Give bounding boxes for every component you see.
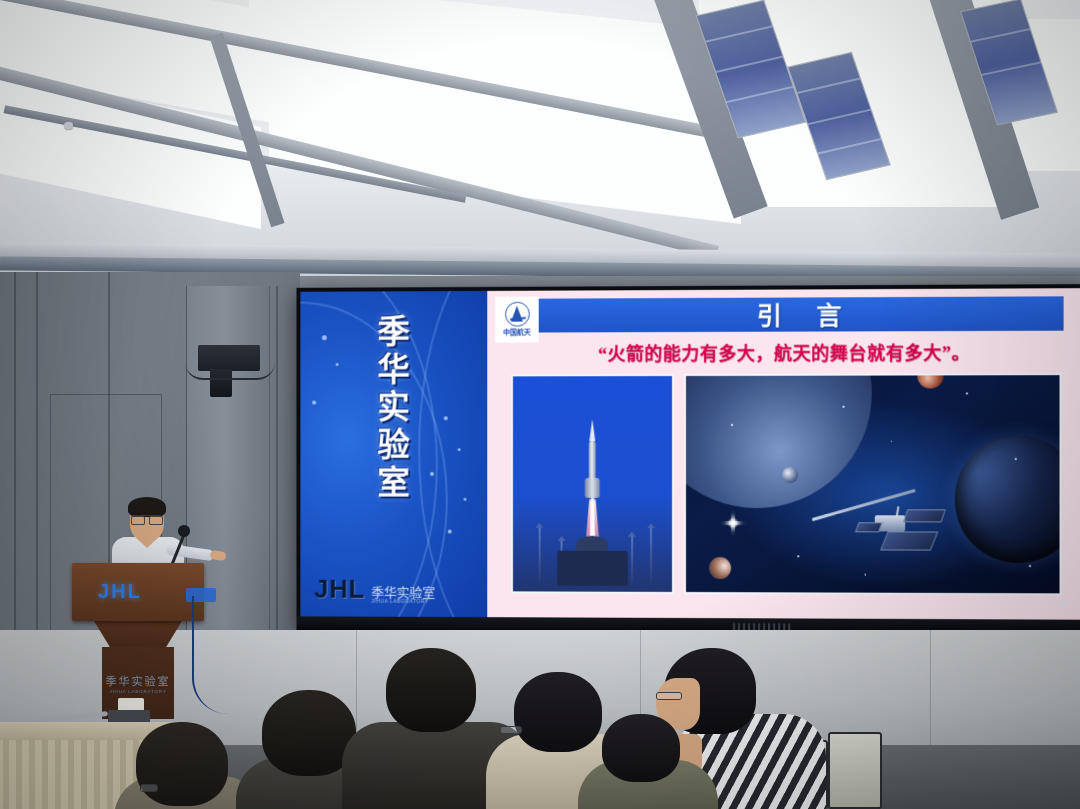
wall-seam bbox=[276, 286, 278, 686]
star bbox=[842, 406, 844, 408]
audience-head bbox=[386, 648, 476, 732]
jhl-wordmark: JHL bbox=[314, 574, 365, 605]
rocket-nose-cone bbox=[590, 419, 596, 441]
podium-front-panel: JHL bbox=[72, 563, 204, 621]
presentation-slide: 中国航天 引 言 “火箭的能力有多大，航天的舞台就有多大”。 bbox=[487, 288, 1080, 622]
decorative-dot bbox=[448, 530, 452, 534]
podium-logo: JHL bbox=[98, 581, 142, 604]
led-display-screen[interactable]: 季 华 实 验 室 JHL 季华实验室 JIHUA LABORATORY bbox=[296, 284, 1080, 636]
slide-title: 引 言 bbox=[743, 296, 856, 333]
slide-content: 中国航天 引 言 “火箭的能力有多大，航天的舞台就有多大”。 bbox=[495, 294, 1076, 611]
jhl-logo-text: 季华实验室 JIHUA LABORATORY bbox=[371, 586, 435, 605]
launch-tower bbox=[538, 527, 540, 583]
decorative-dot bbox=[464, 498, 467, 501]
jhl-logo-cn: 季华实验室 bbox=[371, 586, 435, 600]
casc-emblem-icon bbox=[505, 302, 530, 327]
audience-member-3 bbox=[372, 648, 500, 808]
lower-wall-seam bbox=[930, 630, 931, 750]
star-flare bbox=[720, 510, 746, 536]
audience-glasses-icon bbox=[500, 726, 522, 734]
audience-head bbox=[136, 722, 228, 806]
decorative-dot bbox=[312, 401, 316, 405]
slide-quote-text: “火箭的能力有多大，航天的舞台就有多大”。 bbox=[495, 339, 1076, 367]
screen-content-area: 季 华 实 验 室 JHL 季华实验室 JIHUA LABORATORY bbox=[300, 288, 1080, 622]
podium-cable bbox=[192, 596, 228, 714]
decorative-dot bbox=[444, 416, 448, 420]
lab-name-char-3: 实 bbox=[377, 393, 409, 426]
chair[interactable] bbox=[828, 732, 882, 809]
casc-logo-text: 中国航天 bbox=[503, 328, 531, 338]
podium-en-text: JIHUA LABORATORY bbox=[72, 689, 204, 694]
smoke-detector-icon bbox=[64, 122, 73, 129]
star bbox=[731, 423, 733, 425]
casc-logo: 中国航天 bbox=[495, 297, 539, 343]
launch-pad-base bbox=[557, 551, 627, 586]
moon-small bbox=[709, 557, 731, 579]
decorative-dot bbox=[458, 448, 461, 451]
station-solar-panel bbox=[855, 522, 883, 532]
slide-image-row bbox=[511, 373, 1062, 595]
lab-name-vertical: 季 华 实 验 室 bbox=[377, 317, 409, 501]
star-flare-core bbox=[728, 518, 738, 528]
rocket-boosters bbox=[585, 477, 600, 497]
audience-glasses-icon bbox=[656, 692, 682, 700]
audience-head bbox=[602, 714, 680, 782]
slide-page-number: 4 bbox=[1059, 593, 1066, 609]
space-station-illustration bbox=[684, 373, 1061, 595]
space-station bbox=[812, 493, 961, 567]
lab-name-char-2: 华 bbox=[377, 355, 409, 388]
decorative-dot bbox=[336, 363, 339, 366]
jhl-logo-lockup: JHL 季华实验室 JIHUA LABORATORY bbox=[314, 574, 435, 605]
star bbox=[966, 393, 968, 395]
presenter-hair bbox=[128, 497, 166, 517]
rocket-launch-photo bbox=[511, 374, 674, 594]
camera-cable bbox=[185, 362, 275, 380]
audience-glasses-icon bbox=[140, 784, 158, 792]
audience-member-6 bbox=[586, 714, 706, 809]
station-solar-panel bbox=[903, 509, 946, 522]
star bbox=[1014, 458, 1016, 460]
podium-cn-text: 季华实验室 bbox=[72, 673, 204, 689]
lab-name-char-4: 验 bbox=[377, 430, 409, 463]
slide-title-bar: 引 言 bbox=[539, 296, 1064, 332]
decorative-dot bbox=[430, 472, 434, 476]
jhl-logo-en: JIHUA LABORATORY bbox=[371, 600, 435, 605]
presenter-glasses-icon bbox=[131, 515, 163, 522]
decorative-dot bbox=[322, 335, 327, 340]
audience-member-1 bbox=[118, 722, 248, 809]
conference-room-scene: 季 华 实 验 室 JHL 季华实验室 JIHUA LABORATORY bbox=[0, 0, 1080, 809]
launch-tower bbox=[650, 527, 652, 583]
podium-column bbox=[94, 621, 182, 647]
lab-name-char-1: 季 bbox=[377, 317, 409, 350]
led-left-banner: 季 华 实 验 室 JHL 季华实验室 JIHUA LABORATORY bbox=[300, 291, 487, 619]
microphone-icon bbox=[178, 525, 190, 537]
station-solar-panel bbox=[880, 531, 939, 550]
launch-tower bbox=[631, 536, 633, 583]
lab-name-char-5: 室 bbox=[377, 468, 409, 501]
